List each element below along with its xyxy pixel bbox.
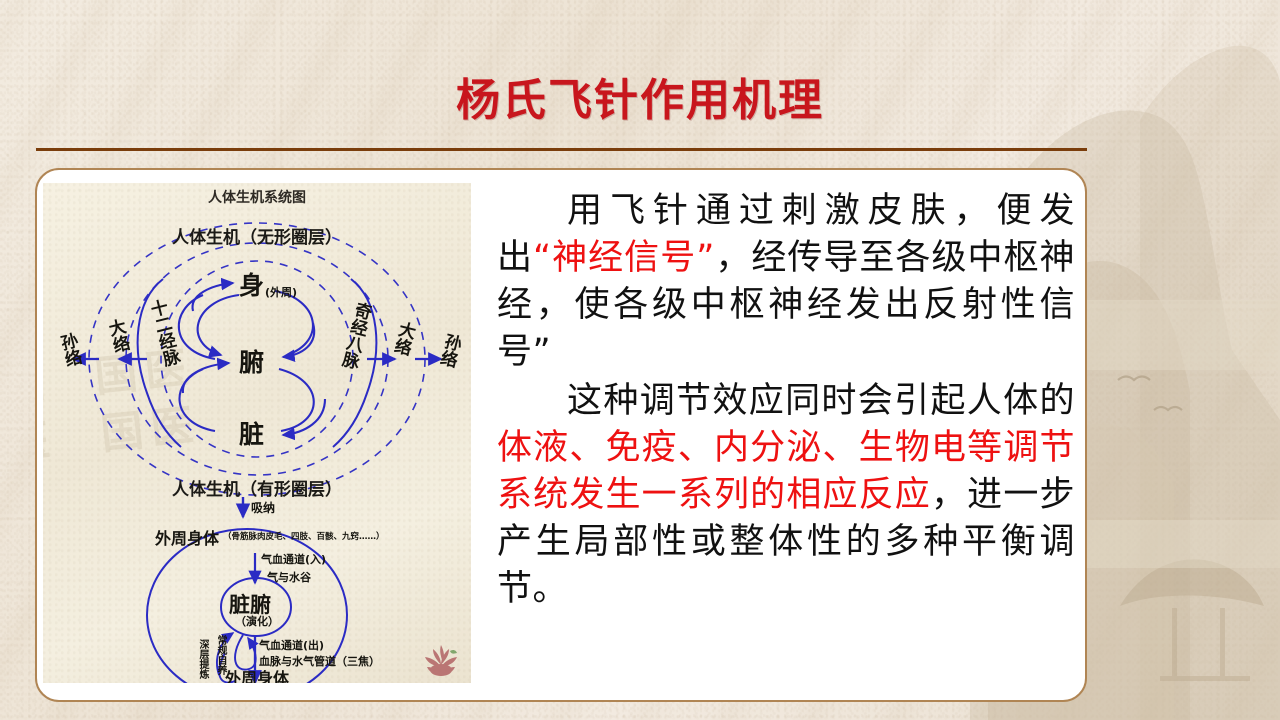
slide-title: 杨氏飞针作用机理 (0, 74, 1280, 128)
figure-node-zang: 脏 (239, 415, 264, 451)
title-divider-rule (36, 148, 1087, 151)
p1-seg-1-highlight: “神经信号” (533, 238, 715, 278)
figure-outer-body-bottom: 外周身体 (43, 665, 471, 683)
figure-channel-in-1: 气血通道(入) (261, 551, 326, 567)
figure-channel-out-1: 气血通道(出) (259, 637, 324, 653)
figure-channel-in-2: 气与水谷 (267, 569, 311, 585)
figure-center-note: （演化） (235, 613, 279, 629)
paragraph-2: 这种调节效应同时会引起人体的体液、免疫、内分泌、生物电等调节系统发生一系列的相应… (497, 378, 1075, 613)
figure-intake-label: 吸纳 (251, 499, 275, 516)
figure-outer-body-top: 外周身体 (155, 525, 219, 549)
figure-lower-heading: 人体生机（有形圈层） (43, 475, 471, 500)
content-panel: 国医 国医 国医 国医 (35, 168, 1087, 702)
paragraph-1: 用飞针通过刺激皮肤，便发出“神经信号”，经传导至各级中枢神经，使各级中枢神经发出… (497, 188, 1075, 376)
figure-node-shen: 身 (239, 266, 264, 302)
slide-canvas: 杨氏飞针作用机理 国医 国医 国医 国医 (0, 0, 1280, 720)
human-vitality-system-diagram: 国医 国医 国医 国医 (43, 183, 471, 683)
figure-node-shen-note: (外周) (265, 284, 297, 300)
p2-seg-0: 这种调节效应同时会引起人体的 (567, 381, 1075, 421)
figure-caption: 人体生机系统图 (43, 187, 471, 207)
lotus-logo-icon (419, 639, 463, 681)
figure-node-fu: 腑 (239, 343, 264, 379)
figure-outer-body-detail: （骨筋脉肉皮毛、四肢、百骸、九窍……） (223, 530, 385, 542)
figure-upper-heading: 人体生机（无形圈层） (43, 223, 471, 248)
body-text-block: 用飞针通过刺激皮肤，便发出“神经信号”，经传导至各级中枢神经，使各级中枢神经发出… (497, 188, 1075, 613)
